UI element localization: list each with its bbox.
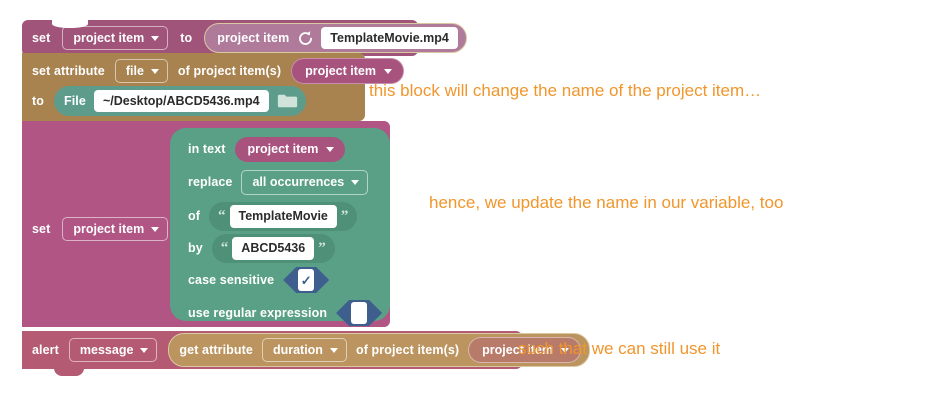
get-attribute-keyword: get attribute <box>179 344 253 357</box>
set-keyword: set <box>32 223 50 236</box>
quote-open-icon: “ <box>214 209 230 224</box>
set-keyword: set <box>32 32 50 45</box>
annotation-reuse: such that we can still use it <box>518 340 720 357</box>
set-attribute-block[interactable]: set attribute file of project item(s) pr… <box>22 53 365 121</box>
reporter-label: project item <box>217 32 289 45</box>
quote-open-icon: “ <box>217 241 233 256</box>
alert-block[interactable]: alert message get attribute duration of … <box>22 331 522 369</box>
in-text-dropdown[interactable]: project item <box>235 137 346 162</box>
duration-dropdown[interactable]: duration <box>262 338 347 363</box>
block-bottom-bump <box>54 368 84 376</box>
use-regular-expression-checkbox[interactable] <box>336 300 382 326</box>
chevron-down-icon <box>326 147 334 152</box>
by-label: by <box>188 242 203 255</box>
annotation-variable: hence, we update the name in our variabl… <box>429 194 783 211</box>
variable-dropdown-label: project item <box>73 32 144 45</box>
set-attribute-row-1: set attribute file of project item(s) pr… <box>32 57 404 85</box>
search-text-input[interactable]: TemplateMovie <box>230 205 337 228</box>
attribute-dropdown-label: file <box>126 65 144 78</box>
to-keyword: to <box>32 95 44 108</box>
occurrences-dropdown[interactable]: all occurrences <box>241 170 368 195</box>
variable-dropdown[interactable]: project item <box>62 26 168 51</box>
duration-dropdown-label: duration <box>273 344 323 357</box>
chevron-down-icon <box>151 36 159 41</box>
replace-row-by: by “ ABCD5436 ” <box>188 234 335 263</box>
variable-dropdown-label: project item <box>73 223 144 236</box>
case-sensitive-checkbox[interactable]: ✓ <box>283 267 329 293</box>
replace-row-use-regex: use regular expression <box>188 300 382 326</box>
message-dropdown-label: message <box>80 344 134 357</box>
set-attribute-keyword: set attribute <box>32 65 105 78</box>
set-variable-replace-row: set project item to <box>32 214 192 244</box>
chevron-down-icon <box>151 69 159 74</box>
replace-in-text-block[interactable]: in text project item replace all occurre… <box>170 128 390 321</box>
file-path-input[interactable]: ~/Desktop/ABCD5436.mp4 <box>94 90 269 113</box>
file-label: File <box>64 95 86 108</box>
to-keyword: to <box>180 32 192 45</box>
set-attribute-row-2: to File ~/Desktop/ABCD5436.mp4 <box>32 86 306 116</box>
file-reporter[interactable]: File ~/Desktop/ABCD5436.mp4 <box>54 86 306 117</box>
chevron-down-icon <box>384 69 392 74</box>
folder-icon[interactable] <box>277 93 298 109</box>
chevron-down-icon <box>351 180 359 185</box>
checkmark-icon: ✓ <box>298 269 314 291</box>
chevron-down-icon <box>151 227 159 232</box>
of-label: of <box>188 210 200 223</box>
use-regular-expression-label: use regular expression <box>188 307 327 320</box>
quote-close-icon: ” <box>337 209 353 224</box>
variable-dropdown[interactable]: project item <box>62 217 168 242</box>
in-text-label: in text <box>188 143 226 156</box>
search-text-reporter[interactable]: “ TemplateMovie ” <box>209 202 357 231</box>
message-dropdown[interactable]: message <box>69 338 158 363</box>
attribute-dropdown[interactable]: file <box>115 59 168 84</box>
project-item-reporter[interactable]: project item TemplateMovie.mp4 <box>204 23 467 54</box>
annotation-rename: this block will change the name of the p… <box>369 82 761 99</box>
replacement-text-input[interactable]: ABCD5436 <box>232 237 314 260</box>
replace-label: replace <box>188 176 232 189</box>
chevron-down-icon <box>140 348 148 353</box>
case-sensitive-label: case sensitive <box>188 274 274 287</box>
in-text-dropdown-label: project item <box>248 143 319 156</box>
checkmark-icon <box>351 302 367 324</box>
chevron-down-icon <box>330 348 338 353</box>
target-project-item-label: project item <box>305 65 376 78</box>
replace-row-of: of “ TemplateMovie ” <box>188 202 357 231</box>
alert-keyword: alert <box>32 344 59 357</box>
alert-row: alert message get attribute duration of … <box>32 335 590 365</box>
occurrences-dropdown-label: all occurrences <box>252 176 344 189</box>
quote-close-icon: ” <box>314 241 330 256</box>
replace-row-case-sensitive: case sensitive ✓ <box>188 267 329 293</box>
set-variable-block[interactable]: set project item to project item Templat… <box>22 20 418 56</box>
cycle-icon[interactable] <box>297 30 314 47</box>
replace-row-in-text: in text project item <box>188 137 345 162</box>
of-project-items-label: of project item(s) <box>178 65 281 78</box>
replacement-text-reporter[interactable]: “ ABCD5436 ” <box>212 234 335 263</box>
set-variable-row: set project item to project item Templat… <box>32 20 467 56</box>
script-canvas: set project item to project item Templat… <box>0 0 951 402</box>
of-project-items-label: of project item(s) <box>356 344 459 357</box>
reporter-value-input[interactable]: TemplateMovie.mp4 <box>321 27 458 50</box>
replace-row-replace: replace all occurrences <box>188 170 368 195</box>
